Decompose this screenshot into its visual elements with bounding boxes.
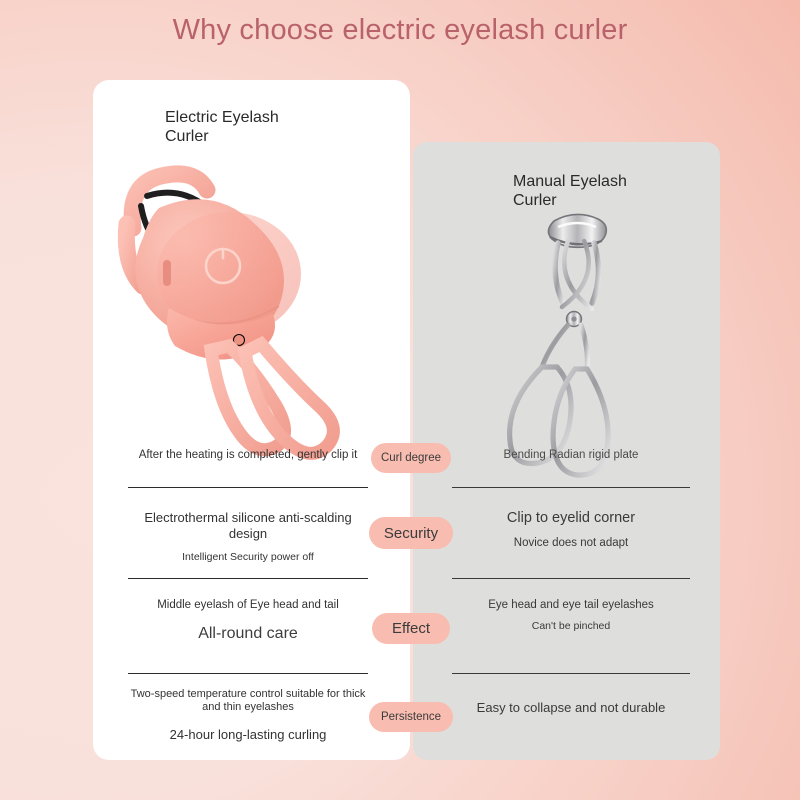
manual-curler-panel: Manual Eyelash Curler: [413, 142, 720, 760]
electric-column-title: Electric Eyelash Curler: [165, 108, 325, 146]
manual-column-title: Manual Eyelash Curler: [513, 172, 673, 210]
page-title: Why choose electric eyelash curler: [0, 14, 800, 47]
electric-eyelash-curler-icon: [111, 162, 391, 492]
manual-eyelash-curler-icon: [488, 207, 658, 497]
electric-curler-panel: Electric Eyelash Curler: [93, 80, 410, 760]
poster-canvas: Why choose electric eyelash curler Manua…: [0, 0, 800, 800]
